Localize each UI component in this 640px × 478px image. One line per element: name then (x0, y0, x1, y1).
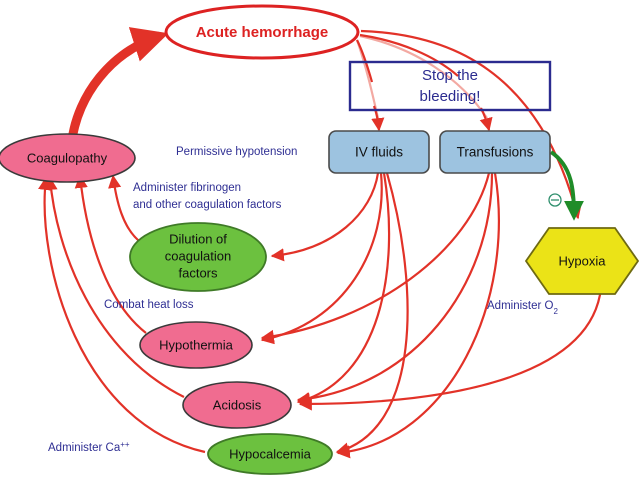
administer-ca-superscript: ++ (120, 440, 130, 449)
edge-transfusions-to-hypothermia (262, 173, 489, 338)
edge-coagulopathy-to-hemorrhage (72, 36, 160, 140)
node-transfusions[interactable]: Transfusions (440, 131, 550, 173)
node-acute-hemorrhage[interactable]: Acute hemorrhage (166, 6, 358, 58)
annotation-administer-o2: Administer O2 (487, 300, 558, 316)
node-acidosis[interactable]: Acidosis (183, 382, 291, 428)
callout-line2: bleeding! (420, 88, 481, 105)
edge-ivfluids-to-acidosis (298, 173, 389, 402)
annotation-administer-fibrinogen-line1: Administer fibrinogen (133, 182, 241, 194)
transfusions-label: Transfusions (457, 145, 534, 160)
node-dilution-of-coagulation-factors[interactable]: Dilution of coagulation factors (130, 223, 266, 291)
hypoxia-label: Hypoxia (559, 253, 607, 268)
dilution-label-line2: coagulation (165, 248, 232, 263)
edge-hemorrhage-to-hypoxia (361, 31, 578, 218)
acidosis-label: Acidosis (213, 397, 262, 412)
annotation-administer-ca: Administer Ca++ (48, 440, 130, 455)
administer-o2-subscript: 2 (553, 307, 558, 316)
node-hypocalcemia[interactable]: Hypocalcemia (208, 434, 332, 474)
hypocalcemia-label: Hypocalcemia (229, 446, 311, 461)
dilution-label-line1: Dilution of (169, 231, 227, 246)
node-hypoxia[interactable]: Hypoxia (526, 228, 638, 294)
edge-ivfluids-to-hypocalcemia (337, 173, 408, 452)
iv-fluids-label: IV fluids (355, 145, 403, 160)
node-hypothermia[interactable]: Hypothermia (140, 322, 252, 368)
coagulopathy-label: Coagulopathy (27, 150, 108, 165)
edge-hypoxia-to-acidosis (300, 288, 601, 404)
node-coagulopathy[interactable]: Coagulopathy (0, 134, 135, 182)
acute-hemorrhage-label: Acute hemorrhage (196, 24, 329, 41)
annotation-permissive-hypotension: Permissive hypotension (176, 146, 297, 158)
edge-transfusions-to-hypocalcemia (338, 173, 499, 453)
callout-line1: Stop the (422, 67, 478, 84)
trauma-triad-diagram: Acute hemorrhage Stop the bleeding! Coag… (0, 0, 640, 478)
callout-stop-the-bleeding[interactable]: Stop the bleeding! (350, 62, 550, 110)
annotation-combat-heat-loss: Combat heat loss (104, 299, 194, 311)
hypothermia-label: Hypothermia (159, 337, 233, 352)
administer-ca-base: Administer Ca (48, 442, 121, 454)
node-iv-fluids[interactable]: IV fluids (329, 131, 429, 173)
diagram-canvas: Acute hemorrhage Stop the bleeding! Coag… (0, 0, 640, 478)
edge-hemorrhage-to-transfusions (481, 108, 489, 130)
administer-o2-base: Administer O (487, 300, 554, 312)
edge-ivfluids-to-dilution (272, 173, 378, 256)
annotation-administer-fibrinogen-line2: and other coagulation factors (133, 199, 282, 211)
dilution-label-line3: factors (178, 265, 218, 280)
